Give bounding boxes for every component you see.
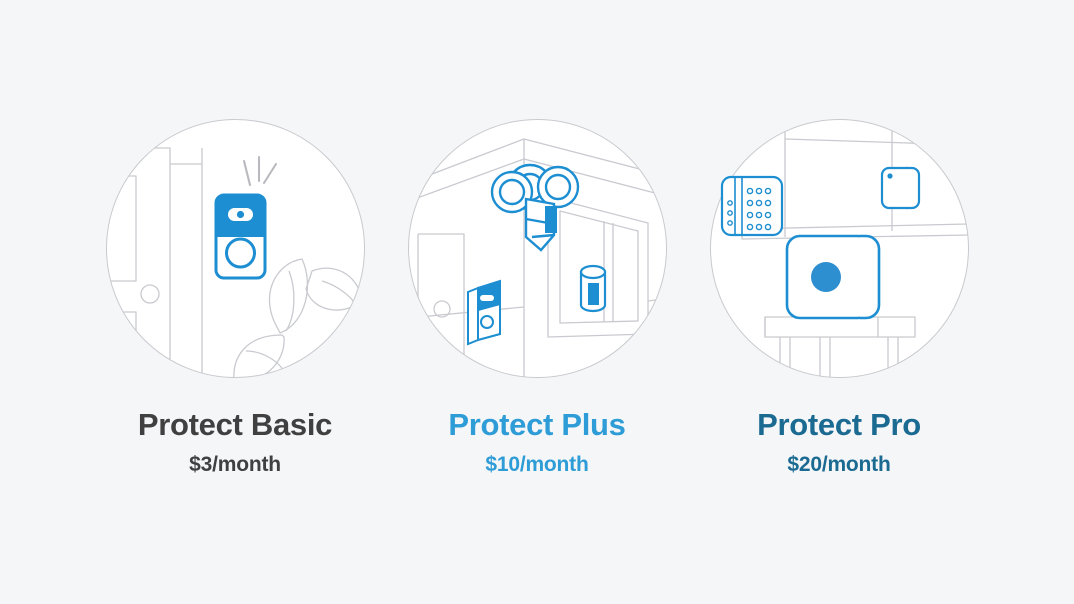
base-station-indicator [811,262,841,292]
alarm-sensor [468,281,500,344]
plan-card-plus[interactable]: Protect Plus $10/month [386,0,688,475]
plan-price-pro: $20/month [787,454,890,475]
door-sensor [882,168,919,208]
plan-price-basic: $3/month [189,454,281,475]
plan-card-pro[interactable]: Protect Pro $20/month [688,0,990,475]
plan-price-plus: $10/month [485,454,588,475]
plan-card-basic[interactable]: Protect Basic $3/month [84,0,386,475]
plan-title-plus: Protect Plus [448,409,625,440]
plan-comparison-page: Protect Basic $3/month [0,0,1074,604]
keypad [722,177,782,235]
plan-list: Protect Basic $3/month [0,0,1074,604]
outdoor-camera [581,266,605,311]
doorbell-camera-illustration [106,119,365,378]
camera-lens-pane [545,206,557,233]
plan-title-basic: Protect Basic [138,409,332,440]
floodlight-camera-illustration [408,119,667,378]
plan-title-pro: Protect Pro [757,409,921,440]
video-doorbell [216,195,265,278]
base-station-illustration [710,119,969,378]
